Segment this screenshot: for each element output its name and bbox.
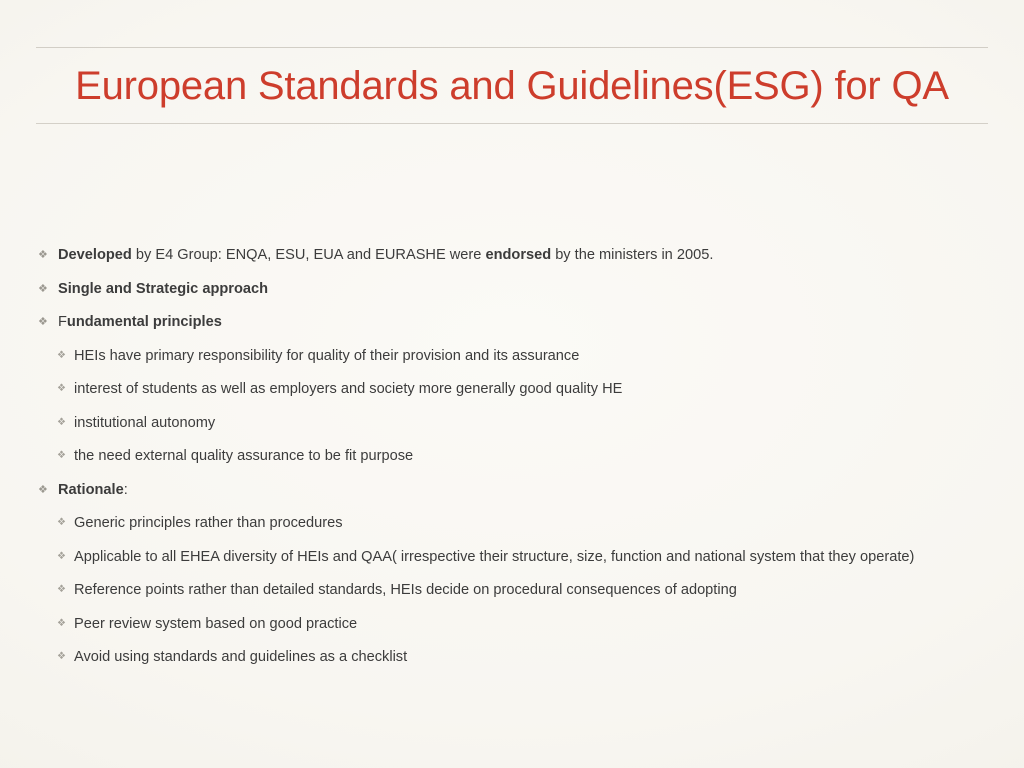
- bullet-text: Peer review system based on good practic…: [74, 615, 964, 633]
- bullet-text-normal: by E4 Group: ENQA, ESU, EUA and EURASHE …: [132, 247, 486, 263]
- bullet-text-normal: Reference points rather than detailed st…: [74, 582, 737, 598]
- bullet-marker-icon: ❖: [38, 280, 58, 298]
- bullet-text: Applicable to all EHEA diversity of HEIs…: [74, 548, 979, 566]
- bullet-text: Reference points rather than detailed st…: [74, 581, 964, 599]
- bullet-interest-of-students: ❖interest of students as well as employe…: [0, 380, 1024, 398]
- bullet-single-strategic: ❖Single and Strategic approach: [0, 280, 1024, 298]
- slide-title-block: European Standards and Guidelines(ESG) f…: [36, 47, 988, 124]
- bullet-external-quality-assurance: ❖the need external quality assurance to …: [0, 447, 1024, 465]
- bullet-marker-icon: ❖: [57, 514, 74, 532]
- bullet-marker-icon: ❖: [57, 548, 74, 566]
- bullet-text-normal: Peer review system based on good practic…: [74, 616, 357, 632]
- bullet-marker-icon: ❖: [57, 347, 74, 365]
- bullet-marker-icon: ❖: [57, 414, 74, 432]
- bullet-text-normal: F: [58, 314, 67, 330]
- bullet-generic-principles: ❖Generic principles rather than procedur…: [0, 514, 1024, 532]
- bullet-text-normal: HEIs have primary responsibility for qua…: [74, 348, 579, 364]
- bullet-applicable-ehea: ❖Applicable to all EHEA diversity of HEI…: [0, 548, 1024, 566]
- bullet-text-normal: by the ministers in 2005.: [551, 247, 713, 263]
- bullet-rationale: ❖Rationale:: [0, 481, 1024, 499]
- bullet-text-strong: Single and Strategic approach: [58, 281, 268, 297]
- bullet-text: HEIs have primary responsibility for qua…: [74, 347, 964, 365]
- bullet-marker-icon: ❖: [57, 581, 74, 599]
- bullet-institutional-autonomy: ❖institutional autonomy: [0, 414, 1024, 432]
- bullet-text-strong: Developed: [58, 247, 132, 263]
- bullet-text-normal: interest of students as well as employer…: [74, 381, 622, 397]
- bullet-text-normal: the need external quality assurance to b…: [74, 448, 413, 464]
- slide-body-bullet-list: ❖Developed by E4 Group: ENQA, ESU, EUA a…: [0, 246, 1024, 682]
- bullet-text: Generic principles rather than procedure…: [74, 514, 964, 532]
- bullet-text: Rationale:: [58, 481, 1024, 499]
- bullet-text-strong: undamental principles: [67, 314, 222, 330]
- bullet-text: Avoid using standards and guidelines as …: [74, 648, 964, 666]
- bullet-marker-icon: ❖: [57, 447, 74, 465]
- bullet-text: Single and Strategic approach: [58, 280, 1024, 298]
- title-bottom-rule: [36, 123, 988, 124]
- bullet-text-normal: Avoid using standards and guidelines as …: [74, 649, 407, 665]
- bullet-text-strong: Rationale: [58, 482, 124, 498]
- bullet-peer-review: ❖Peer review system based on good practi…: [0, 615, 1024, 633]
- bullet-marker-icon: ❖: [57, 380, 74, 398]
- bullet-marker-icon: ❖: [38, 246, 58, 264]
- bullet-marker-icon: ❖: [38, 481, 58, 499]
- bullet-developed: ❖Developed by E4 Group: ENQA, ESU, EUA a…: [0, 246, 1024, 264]
- slide-canvas: European Standards and Guidelines(ESG) f…: [0, 0, 1024, 768]
- bullet-marker-icon: ❖: [57, 648, 74, 666]
- bullet-text: Developed by E4 Group: ENQA, ESU, EUA an…: [58, 246, 1024, 264]
- bullet-avoid-checklist: ❖Avoid using standards and guidelines as…: [0, 648, 1024, 666]
- page-title: European Standards and Guidelines(ESG) f…: [36, 48, 988, 123]
- bullet-text-normal: :: [124, 482, 128, 498]
- bullet-marker-icon: ❖: [38, 313, 58, 331]
- bullet-heis-responsibility: ❖HEIs have primary responsibility for qu…: [0, 347, 1024, 365]
- bullet-marker-icon: ❖: [57, 615, 74, 633]
- bullet-text-normal: institutional autonomy: [74, 415, 215, 431]
- bullet-text: interest of students as well as employer…: [74, 380, 964, 398]
- bullet-text: Fundamental principles: [58, 313, 1024, 331]
- bullet-text: the need external quality assurance to b…: [74, 447, 964, 465]
- bullet-text: institutional autonomy: [74, 414, 964, 432]
- bullet-text-normal: Generic principles rather than procedure…: [74, 515, 343, 531]
- bullet-text-normal: Applicable to all EHEA diversity of HEIs…: [74, 549, 914, 565]
- bullet-text-strong: endorsed: [485, 247, 551, 263]
- bullet-reference-points: ❖Reference points rather than detailed s…: [0, 581, 1024, 599]
- bullet-fundamental-principles: ❖Fundamental principles: [0, 313, 1024, 331]
